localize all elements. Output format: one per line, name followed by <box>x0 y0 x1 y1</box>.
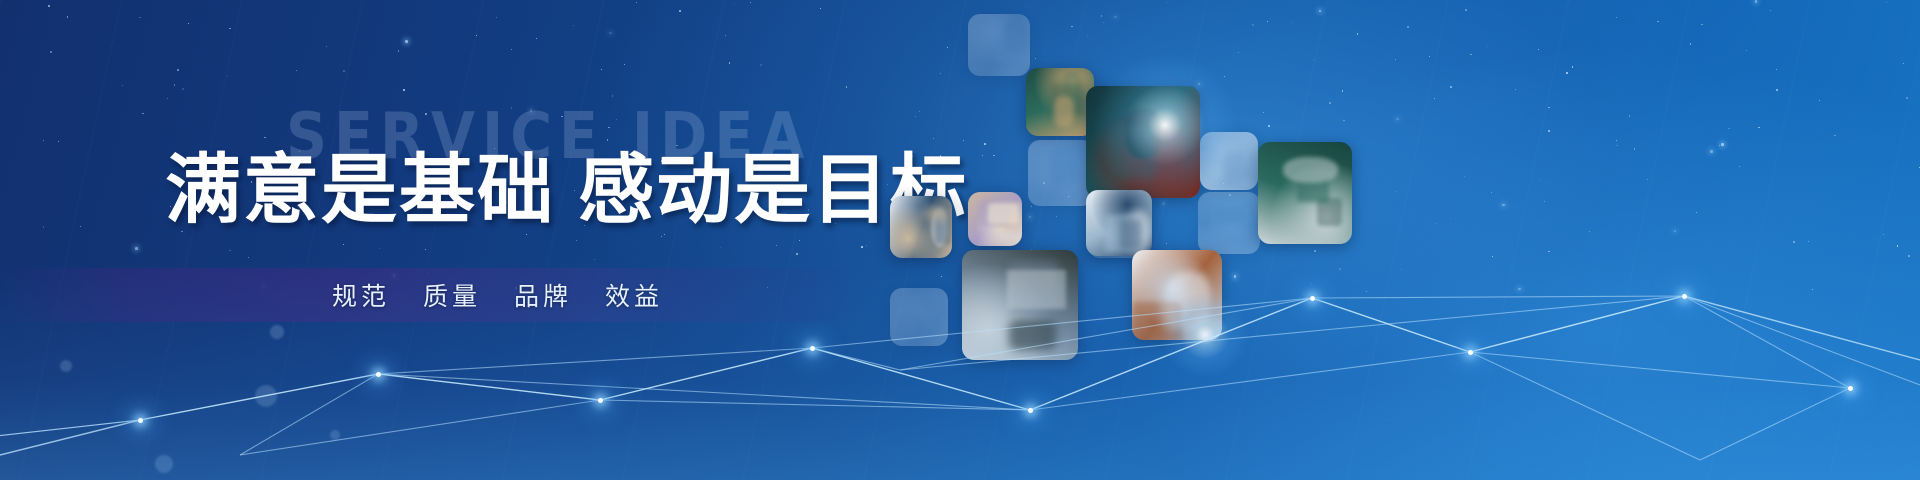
mesh-line <box>1470 352 1850 388</box>
mesh-line <box>600 400 1030 410</box>
tile-texture-blob <box>1283 157 1338 183</box>
mesh-line <box>378 348 812 374</box>
service-idea-banner: SERVICE IDEA 满意是基础 感动是目标 规范质量品牌效益 <box>0 0 1920 480</box>
mesh-line <box>240 374 378 455</box>
tile-texture-blob <box>1153 128 1183 195</box>
mesh-node <box>1028 408 1033 413</box>
tile-texture-blob <box>1120 219 1141 250</box>
tile-texture-blob <box>1003 19 1029 54</box>
tile-texture-blob <box>1223 151 1245 186</box>
tile-texture-blob <box>1054 96 1074 127</box>
mesh-line <box>900 296 1684 370</box>
collage-tile-doctor-examining-elderly-patient <box>968 14 1030 76</box>
mesh-line <box>240 400 600 455</box>
collage-tile-surgeon-in-green-scrubs <box>1258 142 1352 244</box>
mesh-node <box>1310 296 1315 301</box>
mesh-line <box>812 298 1312 348</box>
network-mesh <box>0 250 1920 480</box>
collage-tile-doctor-with-child-patient <box>890 196 952 258</box>
mesh-line <box>1684 296 1920 400</box>
collage-tile-surgery-team-operating-room <box>1026 68 1094 136</box>
tile-texture-blob <box>1214 207 1246 224</box>
collage-tile-xray-film-viewer <box>1198 192 1260 254</box>
mesh-node <box>598 398 603 403</box>
collage-tile-medical-device-scanner <box>1200 132 1258 190</box>
collage-tile-endoscopy-procedure <box>1086 190 1152 256</box>
mesh-line <box>1470 352 1700 460</box>
collage-tile-nurse-caring-for-patient-bed <box>968 192 1022 246</box>
mesh-node <box>138 418 143 423</box>
tile-texture-blob <box>1317 198 1342 226</box>
mesh-node <box>1682 294 1687 299</box>
collage-tile-surgeon-closeup-operating-lamp <box>1086 86 1200 198</box>
mesh-line <box>900 298 1312 370</box>
mesh-line <box>1312 296 1684 298</box>
mesh-node <box>1848 386 1853 391</box>
mesh-node <box>810 346 815 351</box>
mesh-line <box>1030 352 1470 410</box>
mesh-node <box>376 372 381 377</box>
mesh-node <box>1468 350 1473 355</box>
tile-texture-blob <box>1207 165 1224 181</box>
collage-tile-doctor-at-desk-consultation <box>1028 140 1094 206</box>
tile-texture-blob <box>988 203 1019 223</box>
tile-texture-blob <box>923 206 948 221</box>
tile-texture-blob <box>986 18 1003 41</box>
mesh-line <box>1700 388 1850 460</box>
tile-texture-blob <box>1208 227 1222 250</box>
mesh-ridge-line <box>0 296 1920 465</box>
mesh-line <box>378 374 1030 410</box>
